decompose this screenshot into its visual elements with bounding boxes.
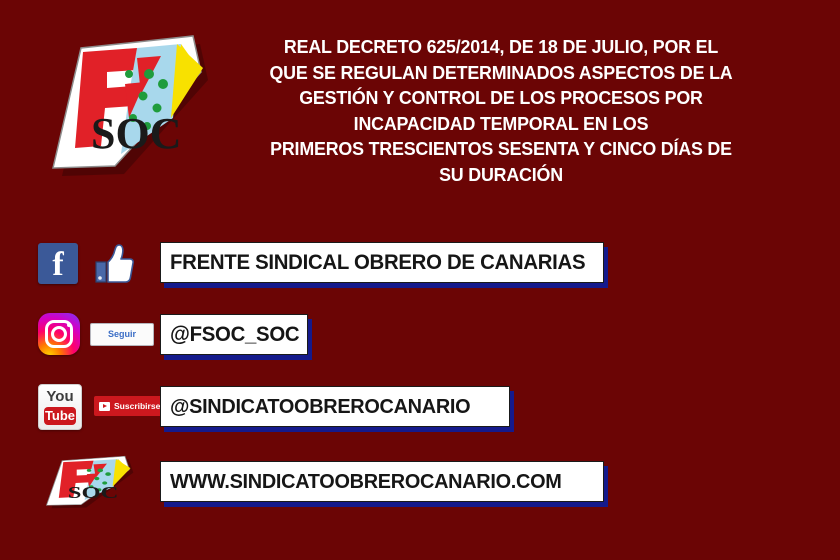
youtube-subscribe-button[interactable]: Suscribirse (94, 396, 165, 416)
fsoc-logo: SOC (45, 22, 220, 194)
title-line-2: QUE SE REGULAN DETERMINADOS ASPECTOS DE … (238, 60, 765, 86)
title-line-4: INCAPACIDAD TEMPORAL EN LOS (238, 111, 765, 137)
youtube-handle-text: @SINDICATOOBREROCANARIO (170, 396, 470, 417)
website-icon-zone: SOC (38, 455, 156, 511)
youtube-icon[interactable]: You Tube (38, 384, 82, 430)
youtube-icon-zone: You Tube Suscribirse (38, 380, 156, 436)
social-row-instagram: Seguir @FSOC_SOC (0, 308, 840, 364)
instagram-handle-plate[interactable]: @FSOC_SOC (160, 314, 308, 355)
title-line-1: REAL DECRETO 625/2014, DE 18 DE JULIO, P… (238, 34, 765, 60)
instagram-icon-lens (51, 326, 67, 342)
youtube-handle-plate[interactable]: @SINDICATOOBREROCANARIO (160, 386, 510, 427)
youtube-icon-top-text: You (39, 389, 81, 405)
fsoc-logo[interactable]: SOC (42, 451, 140, 515)
instagram-handle-text: @FSOC_SOC (170, 324, 299, 345)
facebook-handle-text: FRENTE SINDICAL OBRERO DE CANARIAS (170, 252, 585, 273)
facebook-icon-letter: f (38, 243, 78, 284)
instagram-follow-label: Seguir (108, 330, 136, 339)
facebook-handle-plate[interactable]: FRENTE SINDICAL OBRERO DE CANARIAS (160, 242, 604, 283)
youtube-icon-bottom-text: Tube (44, 407, 76, 425)
fsoc-logo-svg: SOC (45, 22, 220, 194)
title-line-3: GESTIÓN Y CONTROL DE LOS PROCESOS POR (238, 85, 765, 111)
thumbs-up-icon-svg (92, 242, 136, 286)
social-row-website: SOC WWW.SINDICATOOBREROCANARIO.COM (0, 455, 840, 511)
poster-header: SOC REAL DECRETO 625/2014, DE 18 DE JULI… (0, 0, 840, 205)
social-row-youtube: You Tube Suscribirse @SINDICATOOBREROCAN… (0, 380, 840, 436)
fsoc-logo-small-text: SOC (68, 483, 119, 502)
title-line-5: PRIMEROS TRESCIENTOS SESENTA Y CINCO DÍA… (238, 136, 765, 162)
fsoc-logo-small-svg: SOC (42, 451, 140, 515)
instagram-follow-button[interactable]: Seguir (90, 323, 154, 346)
title-line-6: SU DURACIÓN (238, 162, 765, 188)
youtube-subscribe-label: Suscribirse (114, 402, 160, 411)
poster-canvas: SOC REAL DECRETO 625/2014, DE 18 DE JULI… (0, 0, 840, 560)
website-url-text: WWW.SINDICATOOBREROCANARIO.COM (170, 471, 562, 492)
website-url-plate[interactable]: WWW.SINDICATOOBREROCANARIO.COM (160, 461, 604, 502)
fsoc-logo-text: SOC (91, 109, 181, 158)
facebook-icon[interactable]: f (38, 243, 78, 284)
instagram-icon-zone: Seguir (38, 308, 156, 364)
instagram-icon-dot (67, 323, 71, 327)
social-row-facebook: f FRENTE SINDICAL OBRERO DE CANARIAS (0, 236, 840, 292)
facebook-icon-zone: f (38, 236, 156, 292)
play-icon (99, 402, 110, 411)
instagram-icon[interactable] (38, 313, 80, 355)
page-title: REAL DECRETO 625/2014, DE 18 DE JULIO, P… (228, 34, 774, 187)
thumbs-up-icon[interactable] (92, 242, 136, 286)
